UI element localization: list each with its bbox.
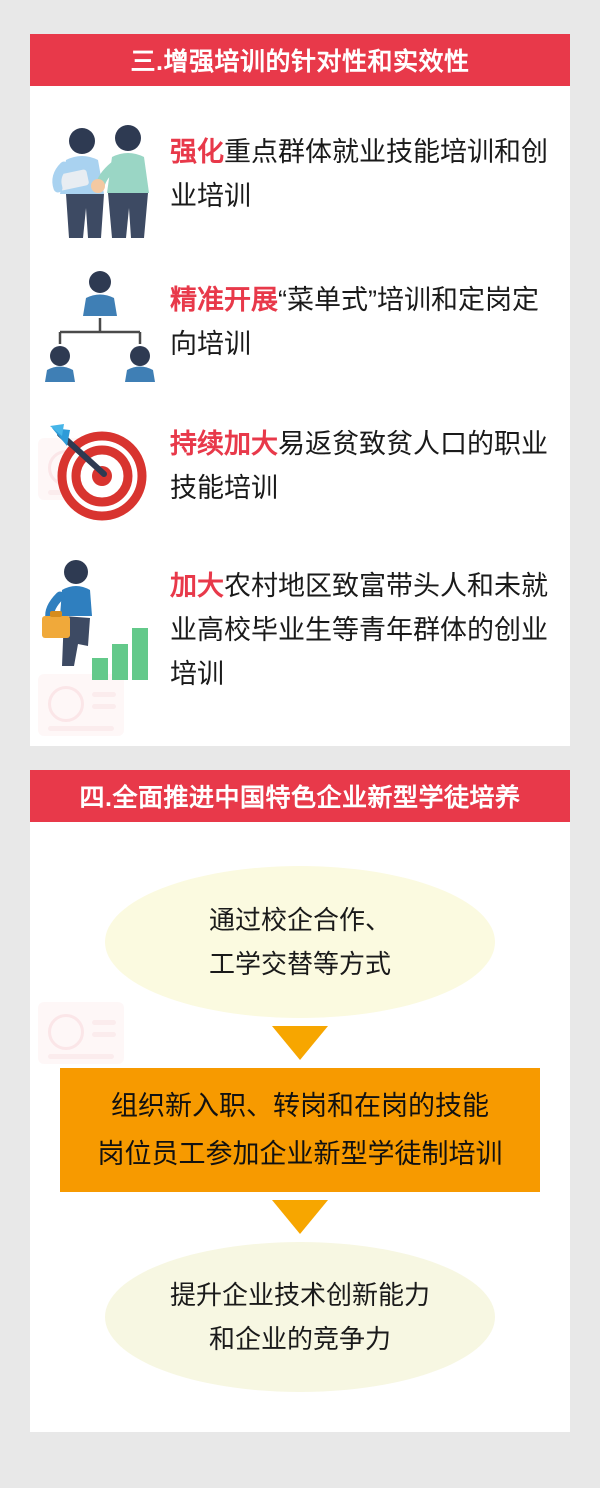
list-item-highlight: 持续加大 (170, 429, 278, 459)
two-people-handshake-laptop-icon (30, 116, 170, 236)
target-dartboard-arrow-icon (30, 408, 170, 528)
flow-step-bottom: 提升企业技术创新能力 和企业的竞争力 (105, 1242, 495, 1392)
infographic-page: 三.增强培训的针对性和实效性 (0, 0, 600, 1488)
flow-arrow-down-icon (272, 1026, 328, 1060)
flow-step-bottom-line2: 和企业的竞争力 (209, 1317, 391, 1361)
flow-arrow-down-icon-2 (272, 1200, 328, 1234)
flow-step-bottom-line1: 提升企业技术创新能力 (170, 1273, 430, 1317)
section-three-body: 强化重点群体就业技能培训和创业培训 精 (30, 86, 570, 746)
flow-step-middle-line2: 岗位员工参加企业新型学徒制培训 (70, 1130, 530, 1178)
person-climbing-bar-chart-icon (30, 550, 170, 690)
flow-step-top: 通过校企合作、 工学交替等方式 (105, 866, 495, 1018)
flow-step-top-line1: 通过校企合作、 (209, 898, 391, 942)
list-item-rest: 农村地区致富带头人和未就业高校毕业生等青年群体的创业培训 (170, 571, 548, 689)
section-four-title: 四.全面推进中国特色企业新型学徒培养 (30, 770, 570, 822)
list-item: 持续加大易返贫致贫人口的职业技能培训 (30, 408, 570, 528)
section-four: 四.全面推进中国特色企业新型学徒培养 通过校企合作、 工学交替等方式 组织新入职 (30, 770, 570, 1432)
process-flow: 通过校企合作、 工学交替等方式 组织新入职、转岗和在岗的技能 岗位员工参加企业新… (30, 822, 570, 1432)
list-item-rest: 重点群体就业技能培训和创业培训 (170, 137, 548, 211)
list-item-text: 加大农村地区致富带头人和未就业高校毕业生等青年群体的创业培训 (170, 550, 570, 696)
list-item: 强化重点群体就业技能培训和创业培训 (30, 116, 570, 236)
flow-step-middle-line1: 组织新入职、转岗和在岗的技能 (70, 1082, 530, 1130)
list-item-text: 强化重点群体就业技能培训和创业培训 (170, 116, 570, 218)
section-three: 三.增强培训的针对性和实效性 (30, 34, 570, 746)
flow-step-middle: 组织新入职、转岗和在岗的技能 岗位员工参加企业新型学徒制培训 (60, 1068, 540, 1192)
section-four-body: 通过校企合作、 工学交替等方式 组织新入职、转岗和在岗的技能 岗位员工参加企业新… (30, 822, 570, 1432)
org-chart-people-icon (30, 264, 170, 384)
section-three-title: 三.增强培训的针对性和实效性 (30, 34, 570, 86)
list-item: 精准开展“菜单式”培训和定岗定向培训 (30, 264, 570, 384)
list-item-highlight: 精准开展 (170, 285, 278, 315)
flow-step-top-line2: 工学交替等方式 (209, 942, 391, 986)
list-item-highlight: 强化 (170, 137, 224, 167)
list-item-highlight: 加大 (170, 571, 224, 601)
list-item-text: 持续加大易返贫致贫人口的职业技能培训 (170, 408, 570, 510)
list-item-text: 精准开展“菜单式”培训和定岗定向培训 (170, 264, 570, 366)
list-item: 加大农村地区致富带头人和未就业高校毕业生等青年群体的创业培训 (30, 550, 570, 696)
